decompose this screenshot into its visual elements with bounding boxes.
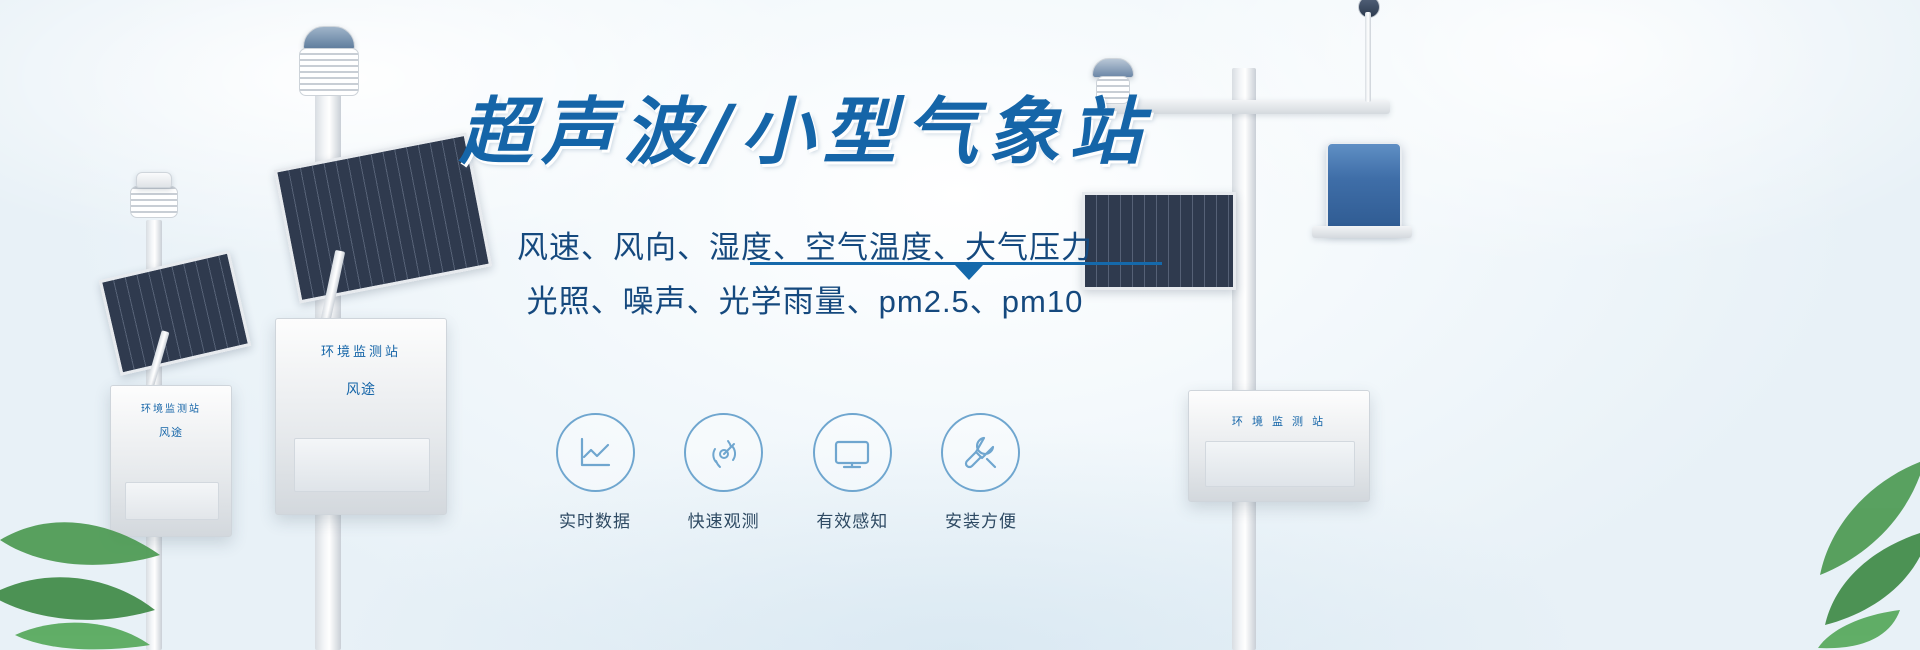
radiation-shield [130,186,178,218]
weather-station-left-small: 环境监测站 风途 [100,180,270,650]
line-chart-icon [556,413,635,492]
cabinet-label: 环境监测站 [321,341,401,360]
brand-label: 风途 [159,424,183,440]
cabinet-label: 环 境 监 测 站 [1232,413,1326,429]
feature-item-fast-observation[interactable]: 快速观测 [672,413,776,532]
hero-copy-block: 超声波/小型气象站 风速、风向、湿度、空气温度、大气压力 光照、噪声、光学雨量、… [435,96,1175,329]
leaf-decoration-right [1700,400,1920,650]
feature-label: 安装方便 [929,507,1033,532]
control-cabinet: 环境监测站 风途 [110,385,232,537]
subtitle-line-1: 风速、风向、湿度、空气温度、大气压力 [435,221,1175,275]
feature-label: 有效感知 [800,507,904,532]
subtitle-line-2: 光照、噪声、光学雨量、pm2.5、pm10 [435,275,1175,329]
cabinet-label: 环境监测站 [141,400,201,415]
brand-label: 风途 [346,379,376,399]
rain-gauge [1326,142,1402,232]
monitor-screen-icon [813,413,892,492]
feature-label: 实时数据 [543,507,647,532]
cabinet-vent [125,482,219,520]
page-title: 超声波/小型气象站 [435,96,1175,169]
cabinet-vent [1205,441,1355,487]
feature-list: 实时数据 快速观测 [543,413,1033,532]
feature-item-effective-sensing[interactable]: 有效感知 [800,413,904,532]
vane-stem [1365,12,1371,102]
wrench-screwdriver-icon [941,413,1020,492]
divider-triangle-icon [955,265,983,280]
radar-scan-icon [684,413,763,492]
title-divider [750,262,1162,265]
feature-label: 快速观测 [672,507,776,532]
solar-panel [99,250,252,376]
radiation-shield [299,48,359,96]
ultrasonic-sensor-head [303,26,355,50]
gauge-shelf [1312,226,1412,238]
sensor-head [136,172,172,188]
mast-pole [1232,68,1256,650]
cabinet-vent [294,438,430,492]
product-hero-banner: 环境监测站 风途 环境监测站 风途 环 境 监 测 站 [0,0,1920,650]
feature-item-realtime-data[interactable]: 实时数据 [543,413,647,532]
ultrasonic-anemometer [1092,58,1134,78]
feature-item-easy-installation[interactable]: 安装方便 [929,413,1033,532]
control-cabinet: 环 境 监 测 站 [1188,390,1370,502]
control-cabinet: 环境监测站 风途 [275,318,447,515]
